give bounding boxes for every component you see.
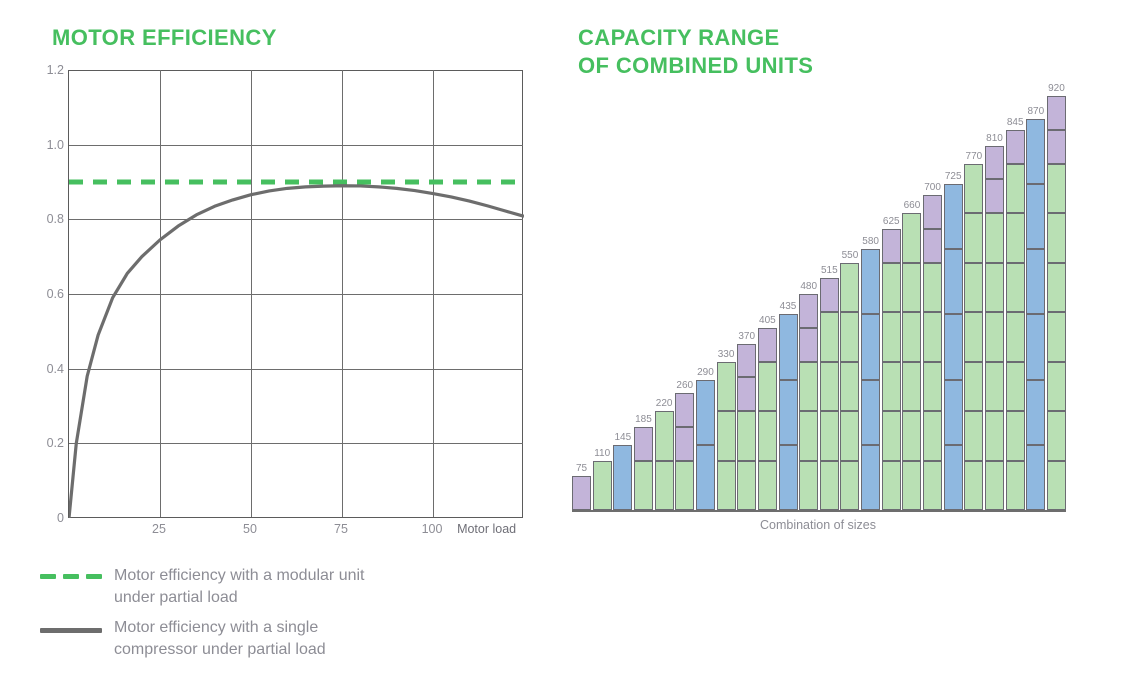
bar-segment-purple (758, 328, 777, 362)
bar-segment-green (655, 411, 674, 461)
bar-segment-green (840, 461, 859, 511)
legend-label-line2: under partial load (114, 587, 364, 609)
bar-segment-green (1047, 461, 1066, 511)
bar-segment-purple (737, 344, 756, 378)
bar-column (696, 380, 715, 511)
legend-label-line1: Motor efficiency with a modular unit (114, 565, 364, 587)
x-axis-tick-label: 50 (243, 522, 257, 536)
bar-segment-green (1006, 164, 1025, 214)
bar-value-label: 770 (966, 151, 983, 162)
bar-segment-green (758, 411, 777, 461)
bar-segment-green (1006, 362, 1025, 412)
bar-x-axis-label: Combination of sizes (568, 518, 1068, 532)
bar-segment-green (1047, 213, 1066, 263)
bar-segment-blue (944, 314, 963, 379)
bar-segment-blue (1026, 314, 1045, 379)
bar-segment-green (840, 362, 859, 412)
bar-segment-green (882, 362, 901, 412)
legend-label: Motor efficiency with a single compresso… (114, 617, 326, 661)
bar-segment-green (737, 461, 756, 511)
bar-segment-green (964, 263, 983, 313)
bar-chart-baseline (572, 510, 1066, 512)
bar-segment-green (964, 213, 983, 263)
bar-segment-purple (820, 278, 839, 312)
x-axis-tick-label: 100 (422, 522, 443, 536)
bar-segment-green (882, 461, 901, 511)
bar-segment-green (799, 461, 818, 511)
bar-segment-green (964, 461, 983, 511)
solid-line-icon (40, 628, 102, 633)
capacity-range-panel: CAPACITY RANGE OF COMBINED UNITS 7511014… (560, 0, 1125, 683)
bar-segment-green (882, 312, 901, 362)
bar-segment-green (634, 461, 653, 511)
bar-segment-green (737, 411, 756, 461)
bar-segment-blue (1026, 445, 1045, 510)
bar-value-label: 580 (862, 236, 879, 247)
bar-segment-blue (944, 380, 963, 445)
bar-segment-green (882, 411, 901, 461)
bar-segment-green (675, 461, 694, 511)
bar-segment-green (820, 312, 839, 362)
line-series-svg (69, 70, 524, 518)
bar-segment-green (902, 411, 921, 461)
bar-segment-purple (985, 179, 1004, 213)
x-axis-label: Motor load (457, 522, 516, 536)
bar-column (944, 184, 963, 510)
bar-segment-blue (861, 445, 880, 510)
bar-segment-green (964, 362, 983, 412)
dashed-line-icon (40, 574, 114, 579)
bar-value-label: 810 (986, 133, 1003, 144)
bar-column (613, 445, 632, 510)
bar-segment-blue (944, 445, 963, 510)
bar-segment-green (923, 461, 942, 511)
bar-segment-purple (1047, 130, 1066, 164)
bar-value-label: 870 (1027, 106, 1044, 117)
bar-segment-green (964, 411, 983, 461)
bar-chart: 7511014518522026029033037040543548051555… (568, 60, 1068, 520)
line-chart-plot-area (68, 70, 523, 518)
bar-segment-green (799, 362, 818, 412)
bar-segment-purple (923, 229, 942, 263)
bar-value-label: 370 (738, 331, 755, 342)
bar-value-label: 405 (759, 315, 776, 326)
bar-chart-plot-area: 7511014518522026029033037040543548051555… (572, 60, 1066, 510)
bar-segment-purple (572, 476, 591, 510)
bar-segment-blue (861, 249, 880, 314)
bar-column (820, 278, 839, 510)
bar-value-label: 330 (718, 349, 735, 360)
bar-column (964, 164, 983, 511)
bar-segment-green (985, 213, 1004, 263)
bar-value-label: 220 (656, 398, 673, 409)
bar-value-label: 185 (635, 414, 652, 425)
motor-efficiency-panel: MOTOR EFFICIENCY 00.20.40.60.81.01.2 255… (0, 0, 560, 683)
bar-segment-green (1006, 263, 1025, 313)
bar-segment-blue (779, 314, 798, 379)
series-single-compressor (69, 186, 524, 518)
bar-segment-green (717, 411, 736, 461)
bar-segment-green (655, 461, 674, 511)
bar-segment-green (840, 312, 859, 362)
page-title-motor-efficiency: MOTOR EFFICIENCY (52, 24, 277, 52)
y-axis-tick-label: 1.2 (26, 63, 64, 77)
bar-column (572, 476, 591, 510)
bar-segment-green (902, 312, 921, 362)
bar-column (593, 461, 612, 511)
bar-segment-purple (799, 294, 818, 328)
bar-column (1006, 130, 1025, 510)
bar-segment-blue (613, 445, 632, 510)
bar-column (840, 263, 859, 511)
bar-segment-blue (1026, 184, 1045, 249)
bar-value-label: 110 (594, 448, 610, 459)
bar-segment-blue (779, 380, 798, 445)
bar-segment-blue (1026, 380, 1045, 445)
bar-segment-purple (882, 229, 901, 263)
bar-value-label: 75 (576, 463, 587, 474)
bar-column (717, 362, 736, 511)
legend-swatch-dashed (40, 565, 114, 579)
legend-label-line1: Motor efficiency with a single (114, 617, 326, 639)
bar-segment-green (923, 411, 942, 461)
legend-label: Motor efficiency with a modular unit und… (114, 565, 364, 609)
bar-segment-green (1006, 213, 1025, 263)
bar-segment-green (1047, 263, 1066, 313)
bar-segment-blue (944, 184, 963, 249)
bar-value-label: 660 (904, 200, 921, 211)
bar-segment-green (840, 411, 859, 461)
bar-column (923, 195, 942, 510)
bar-segment-green (1006, 411, 1025, 461)
y-axis-tick-label: 0.8 (26, 212, 64, 226)
bar-column (737, 344, 756, 511)
bar-column (1026, 119, 1045, 511)
bar-segment-green (1047, 164, 1066, 214)
bar-segment-green (985, 263, 1004, 313)
x-axis-tick-label: 25 (152, 522, 166, 536)
bar-value-label: 625 (883, 216, 900, 227)
bar-segment-green (1047, 362, 1066, 412)
bar-segment-green (964, 312, 983, 362)
y-axis-ticks: 00.20.40.60.81.01.2 (26, 70, 64, 518)
bar-segment-purple (737, 377, 756, 411)
bar-segment-purple (799, 328, 818, 362)
bar-segment-purple (675, 427, 694, 461)
bar-segment-purple (1047, 96, 1066, 130)
bar-segment-green (820, 362, 839, 412)
bar-segment-blue (861, 380, 880, 445)
legend-label-line2: compressor under partial load (114, 639, 326, 661)
x-axis-tick-label: 75 (334, 522, 348, 536)
bar-segment-blue (944, 249, 963, 314)
title-line-1: CAPACITY RANGE (578, 25, 780, 50)
bar-column (1047, 96, 1066, 510)
bar-column (882, 229, 901, 510)
bar-segment-purple (634, 427, 653, 461)
bar-segment-green (717, 362, 736, 412)
bar-segment-blue (779, 445, 798, 510)
bar-value-label: 550 (842, 250, 859, 261)
bar-segment-green (1006, 312, 1025, 362)
legend: Motor efficiency with a modular unit und… (40, 565, 480, 669)
bar-segment-green (758, 461, 777, 511)
bar-segment-green (902, 263, 921, 313)
y-axis-tick-label: 0.6 (26, 287, 64, 301)
bar-segment-green (1047, 312, 1066, 362)
bar-segment-green (985, 362, 1004, 412)
bar-column (675, 393, 694, 510)
bar-segment-green (820, 461, 839, 511)
bar-segment-green (902, 461, 921, 511)
bar-value-label: 260 (676, 380, 693, 391)
bar-column (779, 314, 798, 510)
bar-segment-green (1047, 411, 1066, 461)
bar-segment-green (964, 164, 983, 214)
bar-column (985, 146, 1004, 511)
bar-segment-green (717, 461, 736, 511)
bar-segment-purple (923, 195, 942, 229)
bar-value-label: 290 (697, 367, 714, 378)
bar-segment-green (985, 461, 1004, 511)
bar-column (655, 411, 674, 510)
line-chart: 00.20.40.60.81.01.2 255075100Motor load (26, 60, 526, 520)
bar-value-label: 435 (780, 301, 797, 312)
bar-segment-green (820, 411, 839, 461)
y-axis-tick-label: 0 (26, 511, 64, 525)
legend-item: Motor efficiency with a modular unit und… (40, 565, 480, 609)
bar-segment-green (799, 411, 818, 461)
bar-column (758, 328, 777, 510)
bar-segment-green (985, 312, 1004, 362)
bar-segment-blue (861, 314, 880, 379)
bar-segment-blue (696, 380, 715, 445)
bar-segment-green (902, 362, 921, 412)
bar-segment-green (758, 362, 777, 412)
bar-value-label: 145 (614, 432, 631, 443)
bar-segment-blue (1026, 119, 1045, 184)
bar-value-label: 700 (924, 182, 941, 193)
bar-value-label: 725 (945, 171, 962, 182)
bar-segment-purple (675, 393, 694, 427)
legend-item: Motor efficiency with a single compresso… (40, 617, 480, 661)
y-axis-tick-label: 0.2 (26, 436, 64, 450)
bar-segment-green (882, 263, 901, 313)
bar-segment-purple (1006, 130, 1025, 164)
bar-segment-blue (696, 445, 715, 510)
bar-segment-green (923, 312, 942, 362)
bar-segment-green (840, 263, 859, 313)
y-axis-tick-label: 0.4 (26, 362, 64, 376)
bar-segment-purple (985, 146, 1004, 180)
legend-swatch-solid (40, 617, 114, 633)
bar-segment-green (985, 411, 1004, 461)
bar-column (799, 294, 818, 510)
bar-value-label: 515 (821, 265, 838, 276)
y-axis-tick-label: 1.0 (26, 138, 64, 152)
bar-segment-green (593, 461, 612, 511)
bar-value-label: 920 (1048, 83, 1065, 94)
bar-segment-blue (1026, 249, 1045, 314)
bar-segment-green (1006, 461, 1025, 511)
bar-segment-green (923, 362, 942, 412)
bar-column (902, 213, 921, 510)
bar-column (861, 249, 880, 510)
bar-value-label: 845 (1007, 117, 1024, 128)
bar-segment-green (923, 263, 942, 313)
bar-value-label: 480 (800, 281, 817, 292)
bar-segment-green (902, 213, 921, 263)
bar-column (634, 427, 653, 510)
